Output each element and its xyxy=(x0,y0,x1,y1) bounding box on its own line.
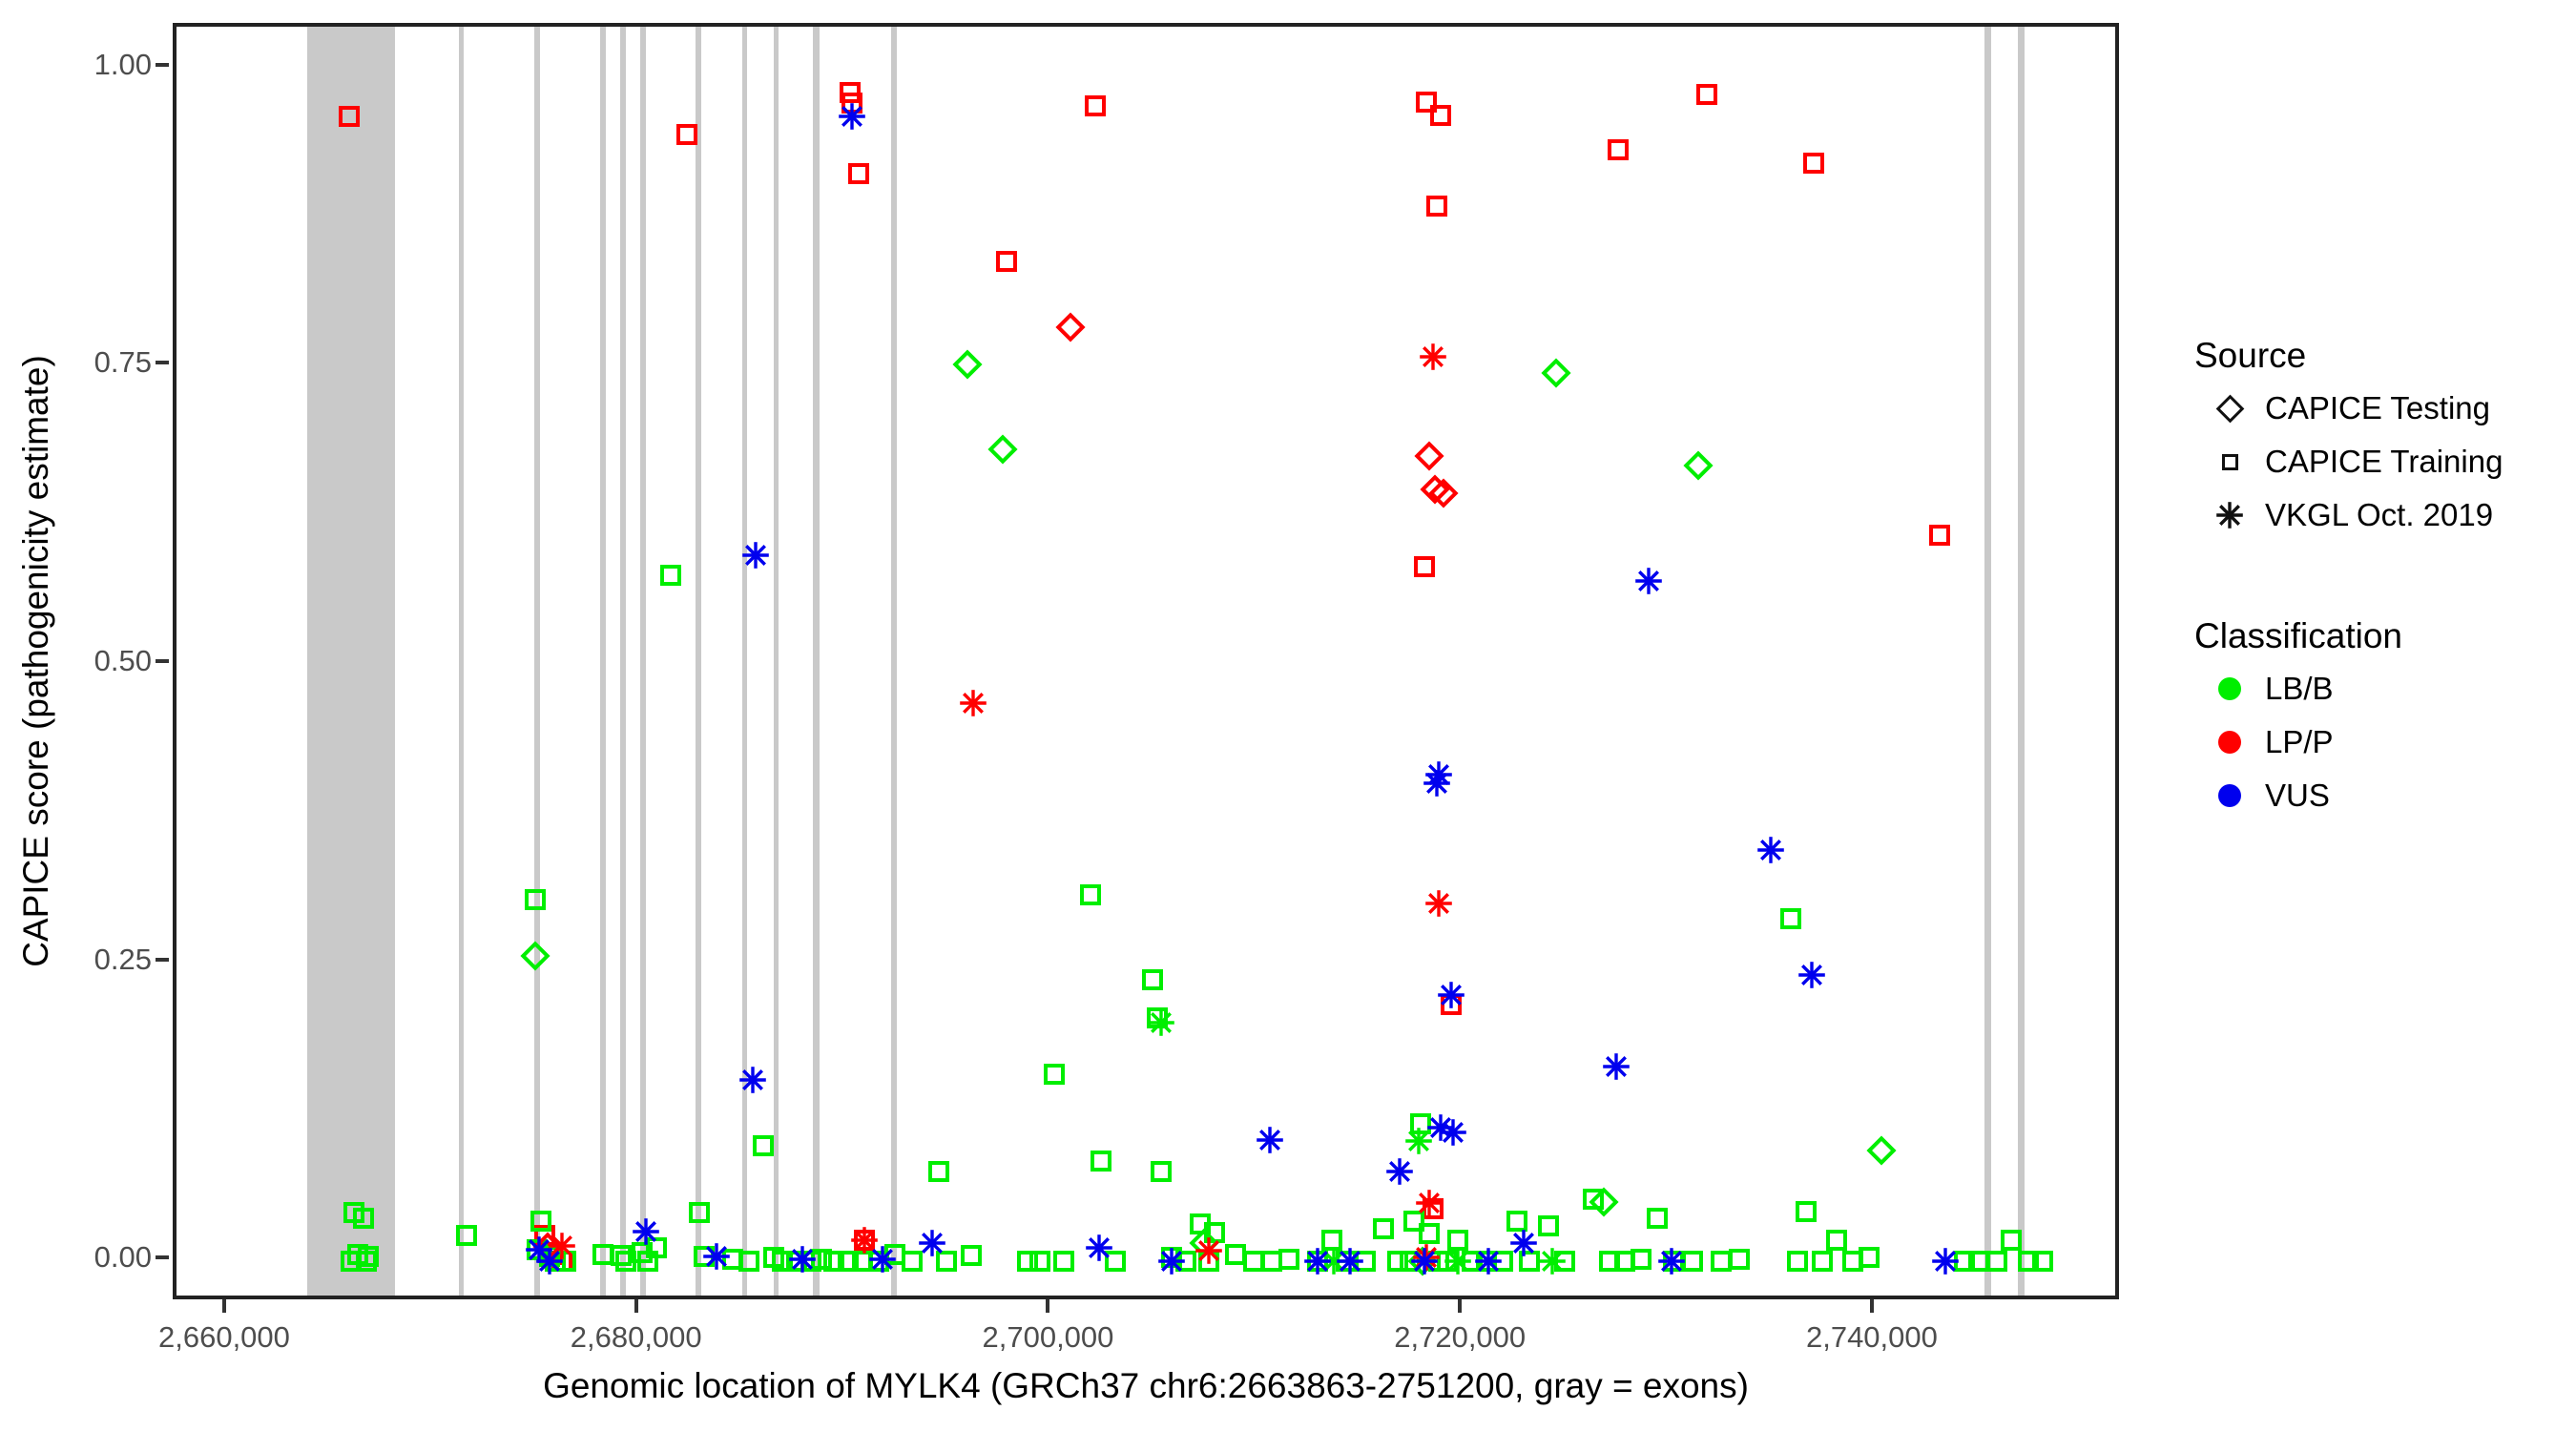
legend-item[interactable]: LB/B xyxy=(2194,662,2566,715)
x-axis-tick-mark xyxy=(1046,1299,1049,1313)
data-point xyxy=(1797,961,1826,989)
legend-item-label: VKGL Oct. 2019 xyxy=(2265,497,2493,533)
data-point xyxy=(1812,1251,1833,1272)
data-point xyxy=(456,1225,477,1246)
asterisk-icon xyxy=(2194,501,2265,529)
diamond-glyph xyxy=(2215,394,2244,423)
data-point xyxy=(1729,1249,1750,1270)
x-axis-title: Genomic location of MYLK4 (GRCh37 chr6:2… xyxy=(173,1366,2119,1406)
data-point xyxy=(959,689,987,717)
data-point xyxy=(996,251,1017,272)
chart-root: CAPICE score (pathogenicity estimate) 0.… xyxy=(0,0,2576,1431)
legend-title: Classification xyxy=(2194,616,2566,656)
data-point xyxy=(1419,1223,1440,1244)
legend-item-label: CAPICE Testing xyxy=(2265,390,2490,426)
y-axis-tick-label: 0.25 xyxy=(94,943,152,977)
data-point xyxy=(1756,836,1785,864)
legend-item[interactable]: CAPICE Training xyxy=(2194,435,2566,488)
legend-group: SourceCAPICE TestingCAPICE TrainingVKGL … xyxy=(2194,336,2566,542)
data-point xyxy=(952,349,982,379)
data-point xyxy=(1091,1151,1111,1172)
legend-item-label: CAPICE Training xyxy=(2265,444,2503,480)
data-point xyxy=(1437,981,1465,1009)
data-point xyxy=(848,163,869,184)
x-axis-tick-label: 2,680,000 xyxy=(571,1320,702,1355)
data-point xyxy=(1696,84,1717,105)
y-axis-tick-label: 1.00 xyxy=(94,48,152,82)
data-point xyxy=(788,1245,817,1274)
data-point xyxy=(1336,1247,1364,1275)
data-point xyxy=(1373,1218,1394,1239)
data-point xyxy=(1509,1229,1538,1257)
legend-item-label: VUS xyxy=(2265,778,2330,814)
data-point xyxy=(676,124,697,145)
data-point xyxy=(1439,1118,1467,1147)
x-axis-tick-mark xyxy=(1458,1299,1462,1313)
y-axis: 0.000.250.500.751.00 xyxy=(0,0,173,1322)
legend-item[interactable]: LP/P xyxy=(2194,715,2566,769)
y-axis-tick-mark xyxy=(156,958,169,962)
data-point xyxy=(1142,969,1163,990)
y-axis-tick-mark xyxy=(156,659,169,663)
data-point xyxy=(1151,1161,1172,1182)
data-point xyxy=(535,1247,564,1275)
data-point xyxy=(1684,451,1714,481)
data-point xyxy=(1147,1008,1175,1037)
data-point xyxy=(1426,196,1447,217)
data-point xyxy=(1542,358,1571,387)
dot-glyph xyxy=(2218,784,2241,807)
data-point xyxy=(1631,1249,1652,1270)
data-point xyxy=(1538,1247,1567,1275)
legend-item[interactable]: VKGL Oct. 2019 xyxy=(2194,488,2566,542)
data-point xyxy=(1608,139,1629,160)
data-point xyxy=(1419,342,1447,371)
y-axis-tick-label: 0.75 xyxy=(94,345,152,380)
data-point xyxy=(1055,313,1085,342)
data-point xyxy=(2001,1230,2022,1251)
data-point xyxy=(1444,1247,1472,1275)
data-point xyxy=(1085,1234,1113,1262)
legend-title: Source xyxy=(2194,336,2566,376)
data-point xyxy=(1780,908,1801,929)
data-point xyxy=(1602,1052,1631,1081)
x-axis-tick-mark xyxy=(1870,1299,1874,1313)
legend: SourceCAPICE TestingCAPICE TrainingVKGL … xyxy=(2194,336,2566,822)
legend-item[interactable]: CAPICE Testing xyxy=(2194,382,2566,435)
data-point xyxy=(1414,556,1435,577)
data-point xyxy=(838,102,866,131)
data-point xyxy=(1787,1251,1808,1272)
y-axis-tick-label: 0.00 xyxy=(94,1240,152,1275)
data-point xyxy=(1647,1208,1668,1229)
data-point xyxy=(520,942,550,971)
x-axis-tick-label: 2,700,000 xyxy=(982,1320,1113,1355)
x-axis-tick-label: 2,660,000 xyxy=(158,1320,290,1355)
data-point xyxy=(356,1251,377,1272)
data-point xyxy=(1410,1247,1439,1275)
data-point xyxy=(1415,1189,1444,1217)
data-point xyxy=(1278,1249,1299,1270)
data-point xyxy=(1929,525,1950,546)
data-point xyxy=(339,106,360,127)
data-point xyxy=(702,1242,731,1271)
scatter-points-layer xyxy=(177,27,2115,1296)
dot-glyph xyxy=(2218,677,2241,700)
x-axis: 2,660,0002,680,0002,700,0002,720,0002,74… xyxy=(173,1299,2119,1366)
data-point xyxy=(1424,889,1453,918)
asterisk-glyph xyxy=(2215,501,2244,529)
data-point xyxy=(1085,95,1106,116)
square-glyph xyxy=(2222,454,2238,470)
plot-area xyxy=(177,27,2115,1296)
data-point xyxy=(961,1245,982,1266)
data-point xyxy=(1474,1247,1503,1275)
data-point xyxy=(868,1245,897,1274)
y-axis-tick-mark xyxy=(156,361,169,364)
data-point xyxy=(525,889,546,910)
data-point xyxy=(1867,1135,1897,1165)
data-point xyxy=(1430,105,1451,126)
legend-item[interactable]: VUS xyxy=(2194,769,2566,822)
data-point xyxy=(1796,1201,1817,1222)
data-point xyxy=(660,565,681,586)
data-point xyxy=(2032,1251,2053,1272)
data-point xyxy=(741,541,770,570)
data-point xyxy=(918,1229,946,1257)
legend-group: ClassificationLB/BLP/PVUS xyxy=(2194,616,2566,822)
data-point xyxy=(530,1211,551,1232)
legend-spacer xyxy=(2194,542,2566,616)
data-point xyxy=(1303,1247,1332,1275)
data-point xyxy=(353,1208,374,1229)
y-axis-tick-label: 0.50 xyxy=(94,644,152,678)
diamond-icon xyxy=(2194,399,2265,419)
x-axis-tick-mark xyxy=(222,1299,226,1313)
data-point xyxy=(632,1217,660,1246)
data-point xyxy=(1803,153,1824,174)
data-point xyxy=(1414,442,1444,471)
y-axis-tick-mark xyxy=(156,63,169,67)
data-point xyxy=(1029,1251,1050,1272)
square-icon xyxy=(2194,454,2265,470)
data-point xyxy=(689,1202,710,1223)
data-point xyxy=(987,434,1017,464)
data-point xyxy=(1385,1157,1414,1186)
data-point xyxy=(738,1251,759,1272)
plot-panel xyxy=(173,23,2119,1299)
x-axis-tick-label: 2,740,000 xyxy=(1806,1320,1938,1355)
data-point xyxy=(1826,1230,1847,1251)
data-point xyxy=(1634,567,1663,595)
data-point xyxy=(1986,1251,2007,1272)
data-point xyxy=(1157,1247,1186,1275)
y-axis-tick-mark xyxy=(156,1255,169,1259)
data-point xyxy=(1506,1211,1527,1232)
data-point xyxy=(1859,1247,1880,1268)
data-point xyxy=(1423,769,1451,798)
dot-glyph xyxy=(2218,731,2241,754)
legend-item-label: LB/B xyxy=(2265,671,2334,707)
data-point xyxy=(1538,1215,1559,1236)
data-point xyxy=(1657,1247,1686,1275)
data-point xyxy=(738,1066,767,1094)
data-point xyxy=(1044,1064,1065,1085)
data-point xyxy=(1053,1251,1074,1272)
dot-icon xyxy=(2194,677,2265,700)
data-point xyxy=(1931,1247,1960,1275)
data-point xyxy=(1195,1236,1223,1265)
x-axis-tick-mark xyxy=(634,1299,638,1313)
data-point xyxy=(753,1135,774,1156)
data-point xyxy=(928,1161,949,1182)
x-axis-tick-label: 2,720,000 xyxy=(1394,1320,1526,1355)
dot-icon xyxy=(2194,731,2265,754)
legend-item-label: LP/P xyxy=(2265,724,2334,760)
dot-icon xyxy=(2194,784,2265,807)
data-point xyxy=(1080,884,1101,905)
data-point xyxy=(1256,1126,1284,1154)
